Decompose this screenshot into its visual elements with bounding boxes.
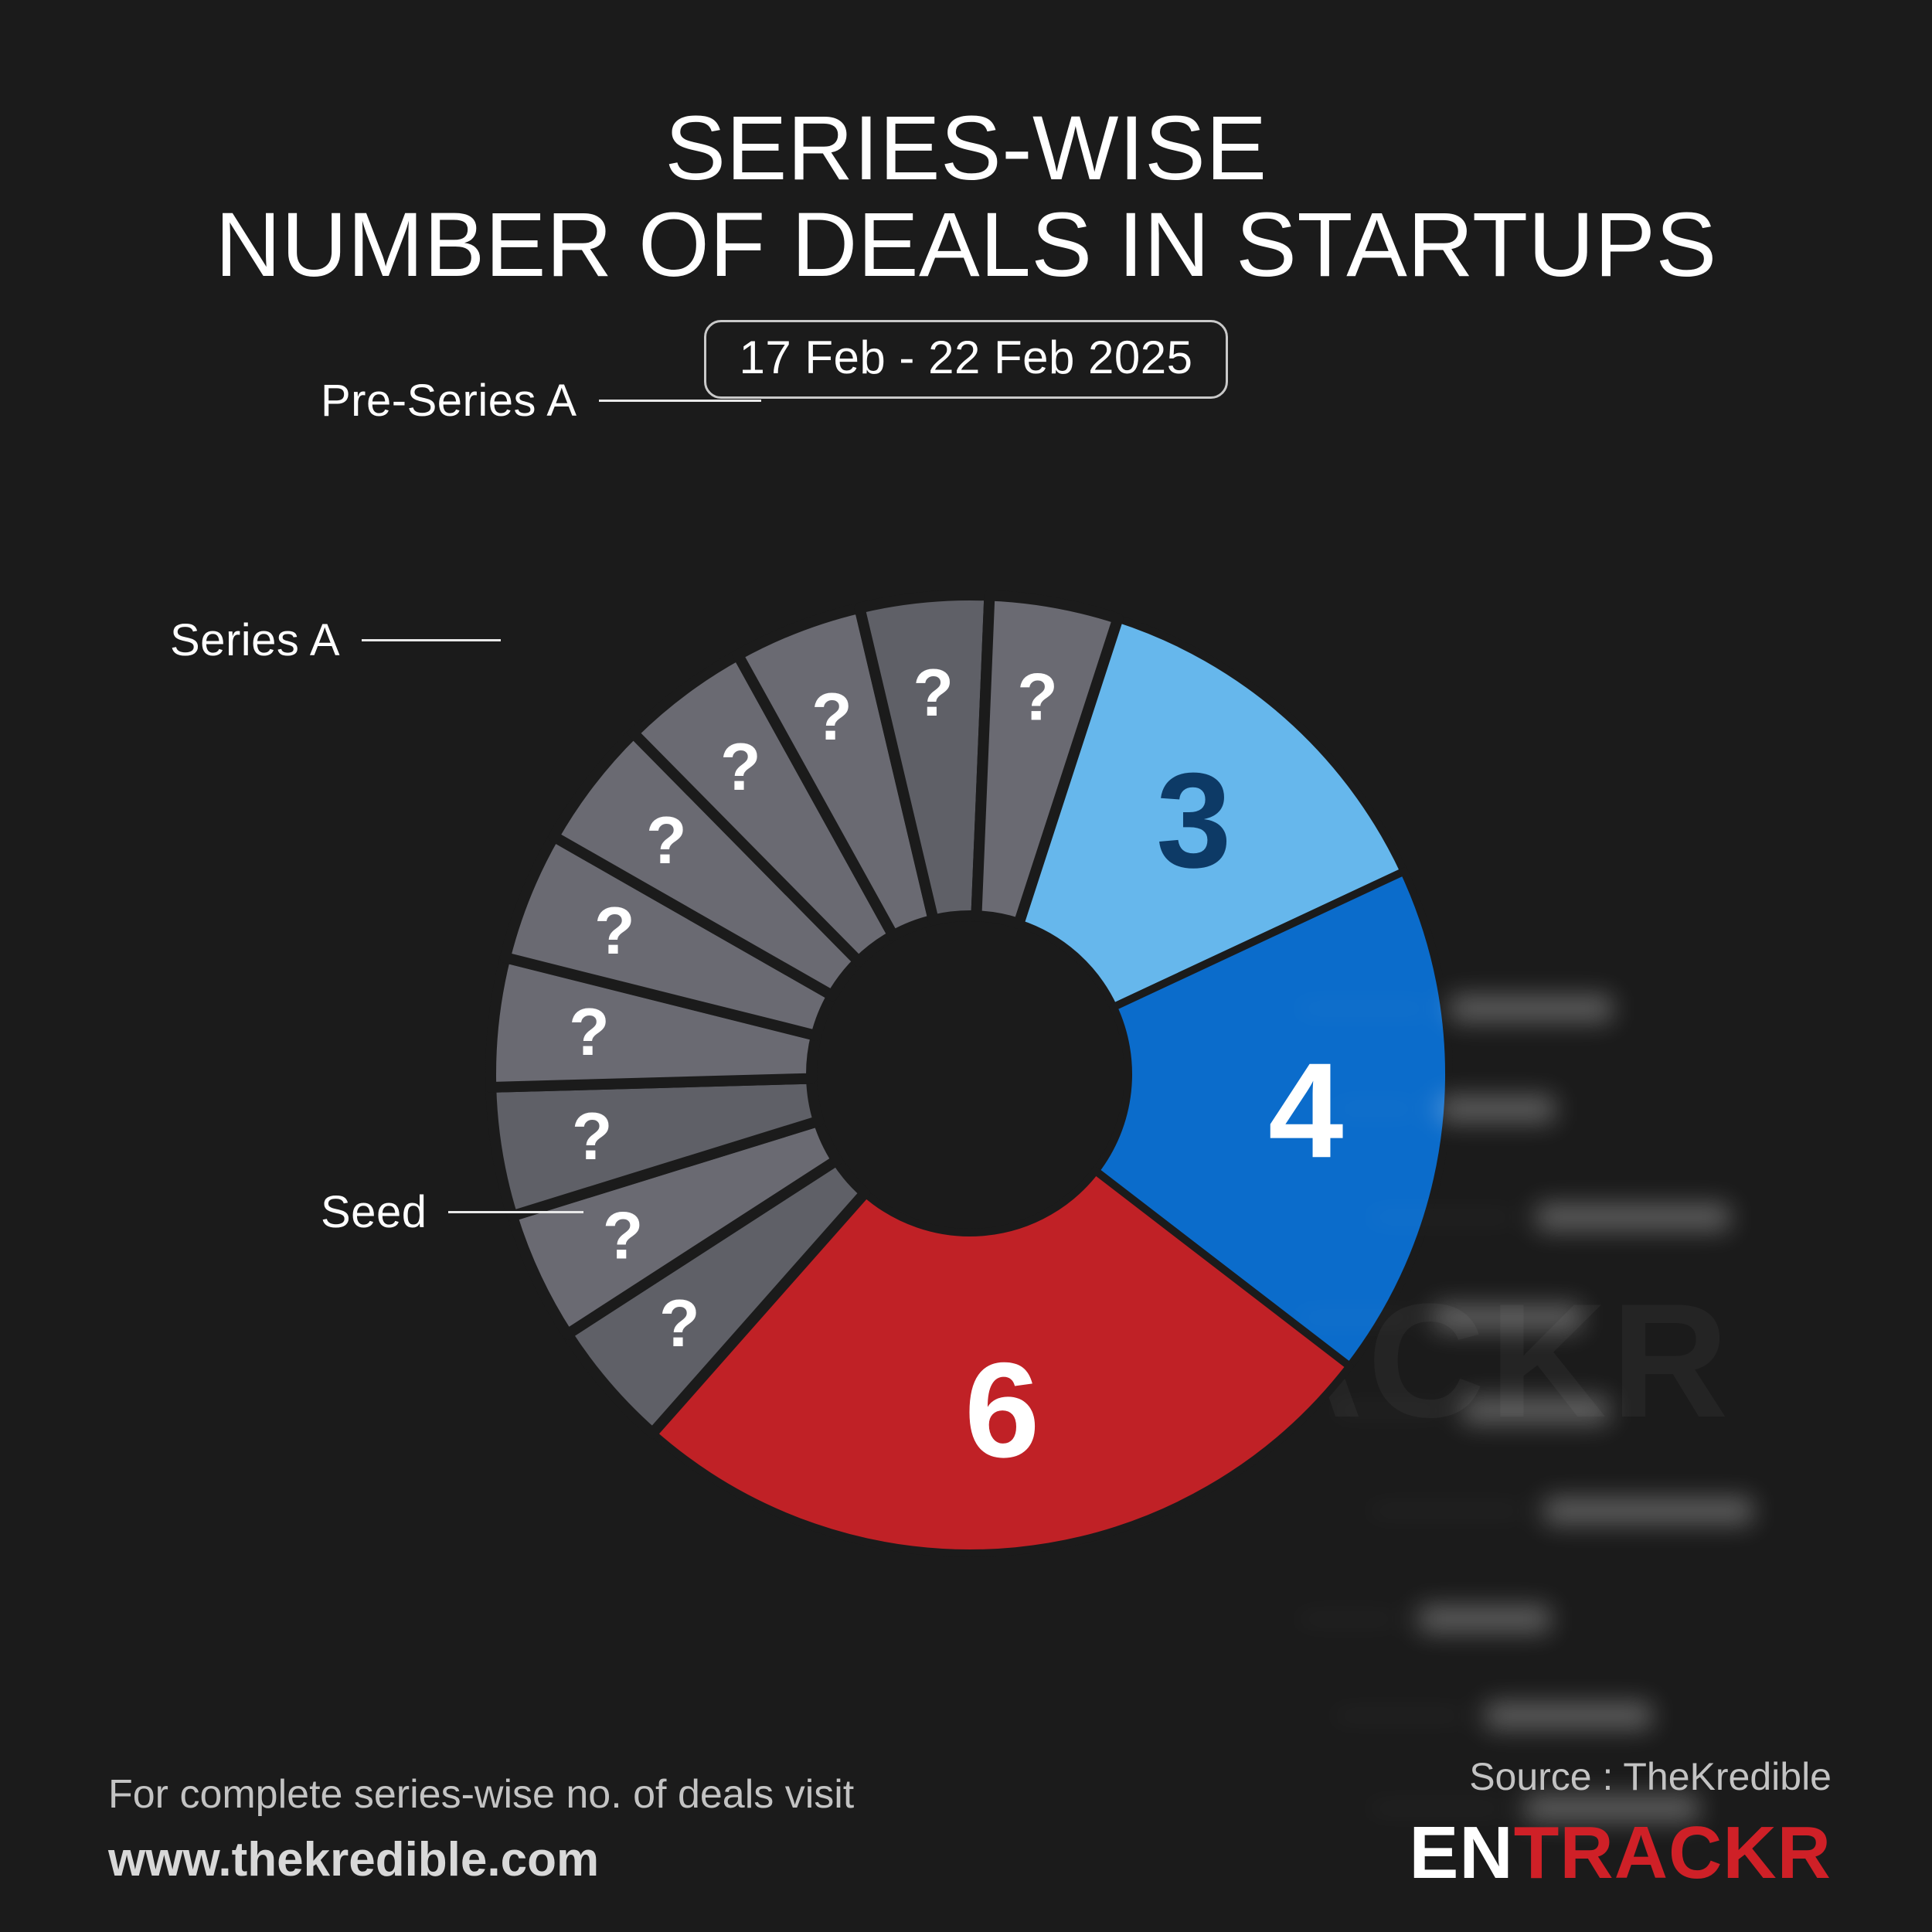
footer-cta-text: For complete series-wise no. of deals vi…: [108, 1770, 854, 1820]
footer-right: Source : TheKredible ENTRACKR: [1409, 1754, 1832, 1890]
leader-line-series-a: [362, 639, 501, 641]
slice-value-hidden: ?: [572, 1100, 613, 1174]
date-range-badge: 17 Feb - 22 Feb 2025: [704, 320, 1227, 399]
header: SERIES-WISE NUMBER OF DEALS IN STARTUPS …: [0, 100, 1932, 399]
footer-website-url: www.thekredible.com: [108, 1832, 854, 1887]
slice-value-hidden: ?: [659, 1287, 700, 1361]
slice-value-hidden: ?: [603, 1199, 644, 1274]
footer-left: For complete series-wise no. of deals vi…: [108, 1770, 854, 1887]
page-title-line-2: NUMBER OF DEALS IN STARTUPS: [0, 197, 1932, 294]
callout-label-pre-series-a: Pre-Series A: [321, 375, 577, 427]
slice-value: 3: [1156, 746, 1231, 896]
slice-value-hidden: ?: [1017, 660, 1058, 734]
slice-value-hidden: ?: [720, 730, 761, 804]
source-attribution: Source : TheKredible: [1409, 1754, 1832, 1799]
page-title-line-1: SERIES-WISE: [0, 100, 1932, 197]
callout-pre-series-a: Pre-Series A: [321, 375, 761, 427]
donut-chart: TRACKR 346?????????? Pre-Series A Series…: [0, 433, 1932, 1685]
slice-value-hidden: ?: [569, 995, 610, 1070]
slice-value: 6: [964, 1335, 1039, 1486]
slice-value-hidden: ?: [646, 804, 687, 878]
entrackr-logo: ENTRACKR: [1409, 1816, 1832, 1890]
slice-value-hidden: ?: [594, 894, 635, 968]
censored-label-text: [1485, 1702, 1651, 1729]
callout-label-seed: Seed: [321, 1186, 427, 1238]
censored-leader-line: [1334, 1714, 1465, 1717]
callout-seed: Seed: [321, 1186, 583, 1238]
slice-value-hidden: ?: [913, 656, 954, 730]
logo-text-trackr: TRACKR: [1514, 1811, 1832, 1894]
leader-line-pre-series-a: [599, 400, 761, 402]
callout-label-series-a: Series A: [170, 614, 340, 666]
censored-label-row: [1334, 1704, 1651, 1727]
infographic-canvas: SERIES-WISE NUMBER OF DEALS IN STARTUPS …: [0, 0, 1932, 1932]
callout-series-a: Series A: [170, 614, 501, 666]
slice-value: 4: [1268, 1036, 1343, 1186]
leader-line-seed: [448, 1211, 583, 1213]
slice-value-hidden: ?: [811, 680, 852, 754]
logo-text-en: EN: [1409, 1811, 1513, 1894]
